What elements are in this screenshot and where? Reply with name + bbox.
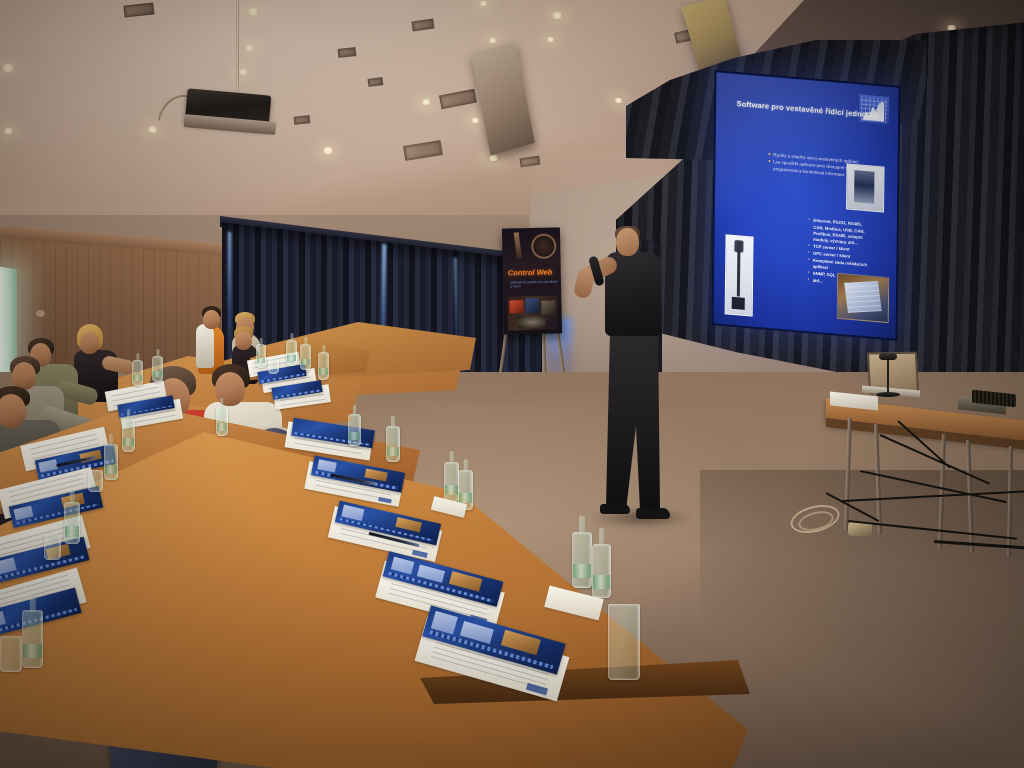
bottle-label [153,371,162,377]
bottle-label [319,368,328,375]
downlight-icon [321,147,335,154]
downlight-icon [0,64,16,72]
drinking-glass [268,358,279,374]
presenter-head [616,228,639,256]
bottle-label [217,423,227,430]
probe-base [732,297,745,310]
drinking-glass [608,604,640,680]
bottle-label [123,438,134,446]
attendee-head [203,310,220,329]
poster-thumb [509,300,523,313]
poster-thumb [541,301,555,315]
projected-slide: Software pro vestavěné řídicí jednotky R… [713,72,898,338]
drinking-glass [88,470,103,492]
bottle-label [301,359,310,365]
downlight-icon [487,38,498,43]
water-bottle [444,462,459,502]
downlight-icon [243,45,256,51]
brochure-photo [365,468,388,481]
water-bottle [300,344,311,370]
cabinet-interior [854,170,874,204]
slide-image-sensor-probe [725,234,754,316]
downlight-icon [545,37,556,42]
downlight-icon [478,1,489,6]
poster-thumb [525,298,539,313]
water-bottle [256,344,266,368]
microphone-stand [887,358,889,394]
water-bottle [386,426,400,462]
water-bottle [592,544,611,598]
downlight-icon [613,98,624,103]
drinking-glass [0,636,22,672]
conference-room-photo: Software pro vestavěné řídicí jednotky R… [0,0,1024,768]
control-web-poster: Control Web průmyslový systém pro vizual… [502,227,562,334]
downlight-icon [2,128,15,134]
bottle-label [593,575,610,589]
pcb-detail [844,281,882,313]
bottle-label [459,493,472,503]
water-bottle [348,414,361,446]
microphone-icon [879,353,897,360]
poster-graphic-tube [514,232,522,258]
downlight-icon [246,8,260,15]
downlight-icon [487,155,500,161]
bottle-label [573,564,591,578]
downlight-icon [550,12,564,19]
water-bottle [216,406,228,436]
bottle-label [105,465,117,474]
bottle-label [445,485,458,495]
poster-thumbnail-strip [507,295,558,330]
attendee-shirt [196,324,214,368]
attendee-head [235,331,252,350]
bottle-label [65,526,79,536]
attendee-head [80,332,99,354]
presenter-shoe [600,504,630,514]
brochure-panel [317,459,337,472]
water-bottle [318,352,329,380]
poster-title: Control Web [508,267,560,277]
wall-fixture [36,310,45,317]
downlight-icon [470,118,481,123]
downlight-icon [420,99,432,105]
bottle-label [257,358,265,364]
water-bottle [152,356,163,382]
projector-mount-pole [236,0,239,92]
ceiling-vent [294,115,311,125]
ceiling-vent [338,47,357,58]
projection-screen: Software pro vestavěné řídicí jednotky R… [711,70,900,341]
bottle-label [387,447,399,456]
poster-thumb [518,316,546,329]
slide-image-cabinet [846,164,885,213]
water-bottle [22,610,43,668]
probe-rod [737,242,741,296]
curtain-light-gap [228,232,231,362]
microphone-base [876,392,900,397]
attendee-head [0,394,26,428]
slide-image-circuit-board [836,273,889,323]
downlight-icon [146,126,159,133]
brochure-photo [396,517,423,533]
bottle-label [287,355,296,361]
bottle-label [349,432,360,440]
drinking-glass [44,534,61,560]
water-bottle [286,340,297,366]
water-bottle [132,360,143,386]
floor-shadow [700,470,1024,768]
poster-graphic-ring [531,233,557,259]
water-bottle [104,444,118,480]
bottle-label [133,375,142,381]
water-bottle [572,532,592,588]
presenter-shoe [636,508,670,519]
poster-subtitle: průmyslový systém pro vizualizaci a říze… [510,279,558,289]
water-bottle [64,502,80,544]
bottle-label [23,644,42,659]
water-bottle [122,418,135,452]
